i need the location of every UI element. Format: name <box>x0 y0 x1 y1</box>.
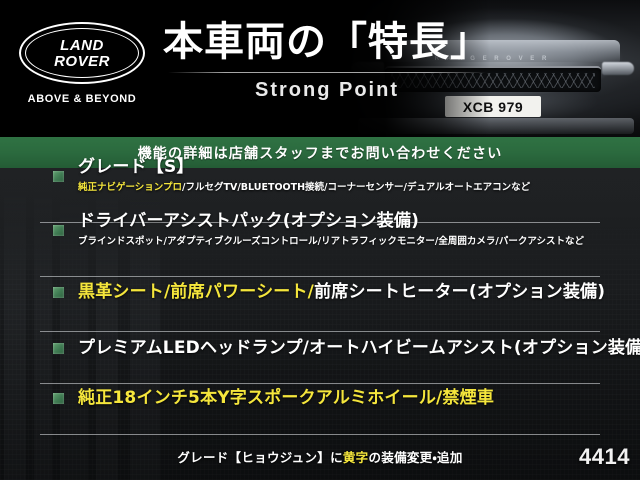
text-run: グレード【S】 <box>78 157 194 177</box>
page-title: 本車両の「特長」 <box>152 18 502 66</box>
text-run: グレード【ヒョウジュン】に <box>177 450 343 465</box>
text-run: 純正ナビゲーションプロ <box>78 182 182 193</box>
list-divider <box>40 383 600 384</box>
green-square-bullet-icon <box>53 171 64 182</box>
header-band: R A N G E R O V E R XCB 979 LAND ROVER A… <box>0 0 640 137</box>
green-square-bullet-icon <box>53 225 64 236</box>
logo-text-rover: ROVER <box>54 54 110 69</box>
text-run: 前席シートヒーター(オプション装備) <box>314 282 605 302</box>
feature-detail: 純正ナビゲーションプロ/フルセグTV/BLUETOOTH接続/コーナーセンサー/… <box>78 182 530 193</box>
car-headlight-right <box>602 62 634 75</box>
feature-text-group: グレード【S】 純正ナビゲーションプロ/フルセグTV/BLUETOOTH接続/コ… <box>78 157 632 195</box>
feature-title: 純正18インチ5本Y字スポークアルミホイール/禁煙車 <box>78 388 494 408</box>
stock-code: 4414 <box>579 444 630 470</box>
text-run: ドライバーアシストパック(オプション装備) <box>78 211 419 231</box>
footer: グレード【ヒョウジュン】に黄字の装備変更・追加 4414 <box>0 444 640 480</box>
vehicle-feature-slide: R A N G E R O V E R XCB 979 LAND ROVER A… <box>0 0 640 480</box>
logo-text-land: LAND <box>60 38 104 53</box>
text-run: 黄字 <box>343 450 369 465</box>
feature-text-group: ドライバーアシストパック(オプション装備) ブラインドスポット/アダプティブクル… <box>78 211 632 249</box>
feature-text-group: 純正18インチ5本Y字スポークアルミホイール/禁煙車 <box>78 388 632 408</box>
feature-title: ドライバーアシストパック(オプション装備) <box>78 211 419 231</box>
text-run: ブラインドスポット/アダプティブクルーズコントロール/リアトラフィックモニター/… <box>78 236 584 247</box>
land-rover-logo: LAND ROVER ABOVE & BEYOND <box>16 22 148 105</box>
list-divider <box>40 434 600 435</box>
green-square-bullet-icon <box>53 287 64 298</box>
title-block: 本車両の「特長」 Strong Point <box>152 18 502 102</box>
text-run: /フルセグTV/BLUETOOTH接続/コーナーセンサー/デュアルオートエアコン… <box>182 182 530 193</box>
green-square-bullet-icon <box>53 343 64 354</box>
feature-title: 黒革シート/前席パワーシート/前席シートヒーター(オプション装備) <box>78 282 605 302</box>
feature-title: グレード【S】 <box>78 157 194 177</box>
footer-note: グレード【ヒョウジュン】に黄字の装備変更・追加 <box>0 447 640 466</box>
page-subtitle: Strong Point <box>152 79 502 102</box>
feature-detail: ブラインドスポット/アダプティブクルーズコントロール/リアトラフィックモニター/… <box>78 236 584 247</box>
list-divider <box>40 276 600 277</box>
list-divider <box>40 331 600 332</box>
text-run: 純正18インチ5本Y字スポークアルミホイール/禁煙車 <box>78 388 494 408</box>
text-run: プレミアムLEDヘッドランプ/オートハイビームアシスト(オプション装備) <box>78 338 640 358</box>
logo-oval-icon: LAND ROVER <box>19 22 145 84</box>
text-run: 黒革シート/前席パワーシート/ <box>78 282 314 302</box>
feature-text-group: プレミアムLEDヘッドランプ/オートハイビームアシスト(オプション装備) <box>78 338 632 358</box>
feature-text-group: 黒革シート/前席パワーシート/前席シートヒーター(オプション装備) <box>78 282 632 302</box>
text-run: の装備変更・追加 <box>368 450 462 465</box>
title-divider <box>168 72 486 73</box>
feature-list: グレード【S】 純正ナビゲーションプロ/フルセグTV/BLUETOOTH接続/コ… <box>0 168 640 440</box>
feature-title: プレミアムLEDヘッドランプ/オートハイビームアシスト(オプション装備) <box>78 338 640 358</box>
logo-tagline: ABOVE & BEYOND <box>16 93 148 105</box>
green-square-bullet-icon <box>53 393 64 404</box>
